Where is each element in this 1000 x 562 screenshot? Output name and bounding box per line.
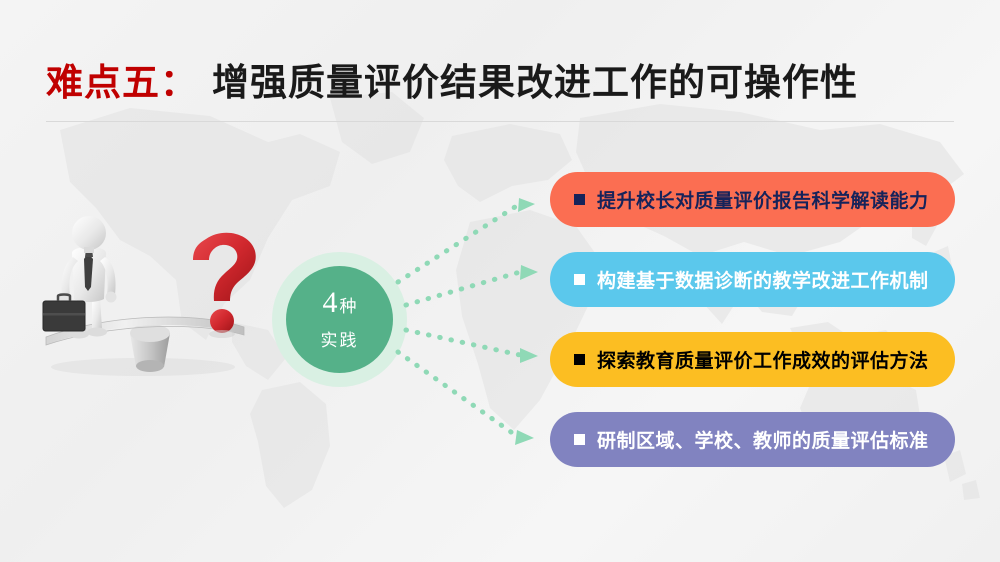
bullet-square-icon — [574, 354, 585, 365]
title-divider — [46, 121, 954, 122]
practice-bar-1[interactable]: 提升校长对质量评价报告科学解读能力 — [550, 172, 955, 227]
connector-line-3 — [406, 330, 520, 355]
title-main: 增强质量评价结果改进工作的可操作性 — [212, 52, 858, 106]
practice-bar-4[interactable]: 研制区域、学校、教师的质量评估标准 — [550, 412, 955, 467]
hub-unit: 种 — [340, 298, 357, 315]
businessman-figure — [43, 216, 117, 339]
practice-bar-3[interactable]: 探索教育质量评价工作成效的评估方法 — [550, 332, 955, 387]
practice-bar-2[interactable]: 构建基于数据诊断的教学改进工作机制 — [550, 252, 955, 307]
practice-bar-1-label: 提升校长对质量评价报告科学解读能力 — [597, 186, 929, 213]
connector-line-1 — [398, 205, 518, 282]
connector-arrowhead-3 — [520, 348, 538, 363]
connector-line-4 — [398, 352, 518, 437]
practice-bar-4-label: 研制区域、学校、教师的质量评估标准 — [597, 426, 929, 453]
hub-circle: 4 种 实践 — [286, 266, 393, 373]
connector-arrowhead-4 — [515, 430, 534, 445]
page-title: 难点五： 增强质量评价结果改进工作的可操作性 — [46, 52, 858, 106]
practice-bar-3-label: 探索教育质量评价工作成效的评估方法 — [597, 346, 929, 373]
slide-canvas: 难点五： 增强质量评价结果改进工作的可操作性 — [0, 0, 1000, 562]
connector-line-2 — [406, 272, 520, 305]
bullet-square-icon — [574, 434, 585, 445]
hub-line-2: 实践 — [321, 326, 359, 351]
fulcrum — [130, 324, 170, 372]
hub-number: 4 — [323, 288, 338, 318]
connector-arrowhead-2 — [520, 265, 538, 280]
practice-bar-2-label: 构建基于数据诊断的教学改进工作机制 — [597, 266, 929, 293]
bullet-square-icon — [574, 194, 585, 205]
hub-line-1: 4 种 — [323, 288, 357, 318]
connector-arrowhead-1 — [518, 198, 535, 212]
bullet-square-icon — [574, 274, 585, 285]
title-prefix: 难点五： — [46, 52, 198, 106]
businessman-on-seesaw-illustration — [18, 205, 268, 380]
